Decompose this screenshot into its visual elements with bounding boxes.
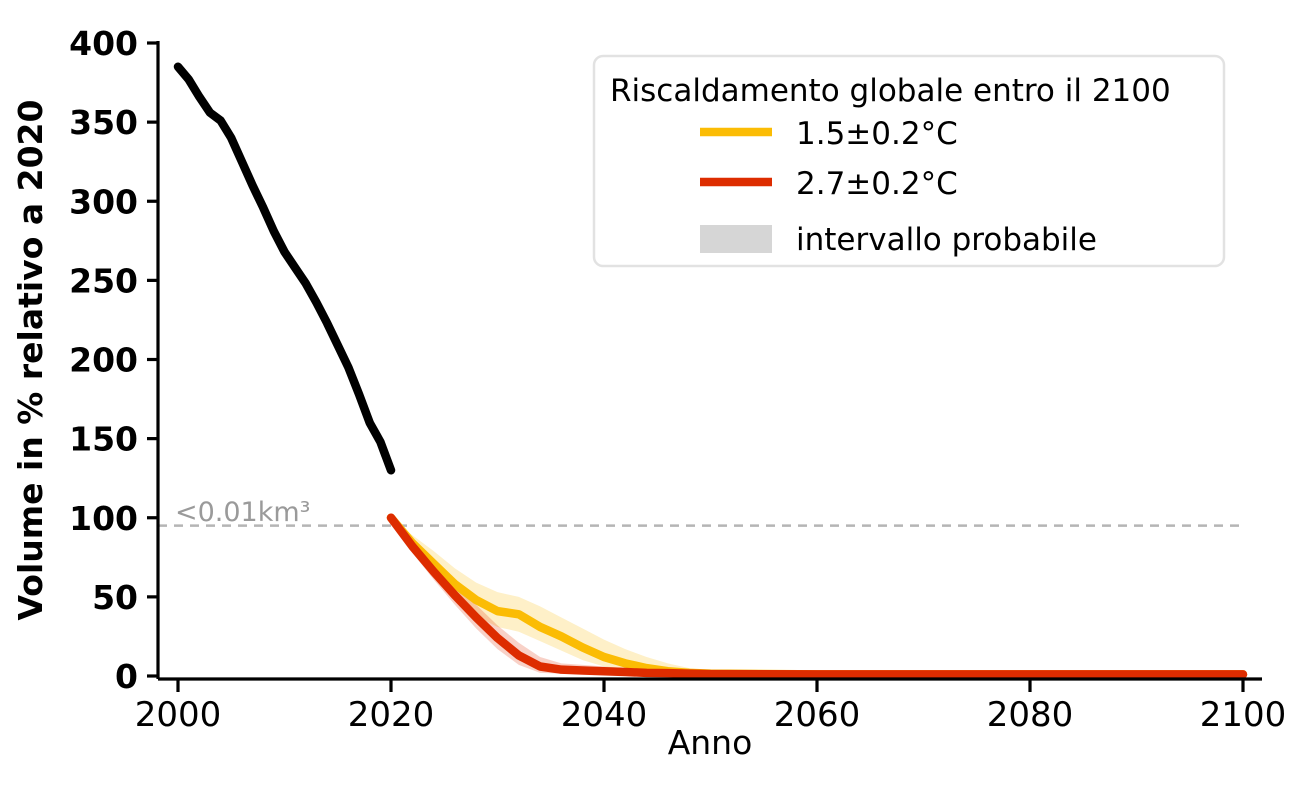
- y-axis-title: Volume in % relativo a 2020: [11, 100, 50, 621]
- legend-title: Riscaldamento globale entro il 2100: [610, 73, 1171, 109]
- legend-label-2-7-degrees: 2.7±0.2°C: [796, 166, 958, 202]
- line-historical: [178, 67, 391, 471]
- x-axis-title: Anno: [668, 723, 753, 762]
- y-tick-label: 400: [69, 24, 138, 63]
- y-tick-label: 100: [69, 499, 138, 538]
- legend-label-likely-range: intervallo probabile: [796, 222, 1097, 258]
- chart-figure: <0.01km³ 050100150200250300350400 200020…: [0, 0, 1300, 800]
- threshold-annotation: <0.01km³: [175, 497, 311, 528]
- x-tick-label: 2040: [561, 695, 648, 735]
- y-tick-label: 0: [115, 657, 138, 696]
- y-tick-label: 300: [69, 182, 138, 221]
- line-2-7-degrees: [391, 518, 1243, 675]
- legend-swatch-likely-range: [700, 225, 772, 253]
- x-tick-label: 2000: [135, 695, 222, 735]
- x-tick-label: 2100: [1200, 695, 1287, 735]
- x-tick-label: 2080: [987, 695, 1074, 735]
- x-tick-label: 2060: [774, 695, 861, 735]
- y-tick-label: 250: [69, 261, 138, 300]
- y-tick-label: 50: [92, 578, 138, 617]
- legend-label-1-5-degrees: 1.5±0.2°C: [796, 116, 958, 152]
- y-tick-label: 150: [69, 420, 138, 459]
- legend: Riscaldamento globale entro il 2100 1.5±…: [594, 56, 1224, 266]
- line-chart: <0.01km³ 050100150200250300350400 200020…: [0, 0, 1300, 800]
- y-axis-ticks: 050100150200250300350400: [69, 24, 158, 696]
- y-tick-label: 350: [69, 103, 138, 142]
- x-tick-label: 2020: [348, 695, 435, 735]
- y-tick-label: 200: [69, 341, 138, 380]
